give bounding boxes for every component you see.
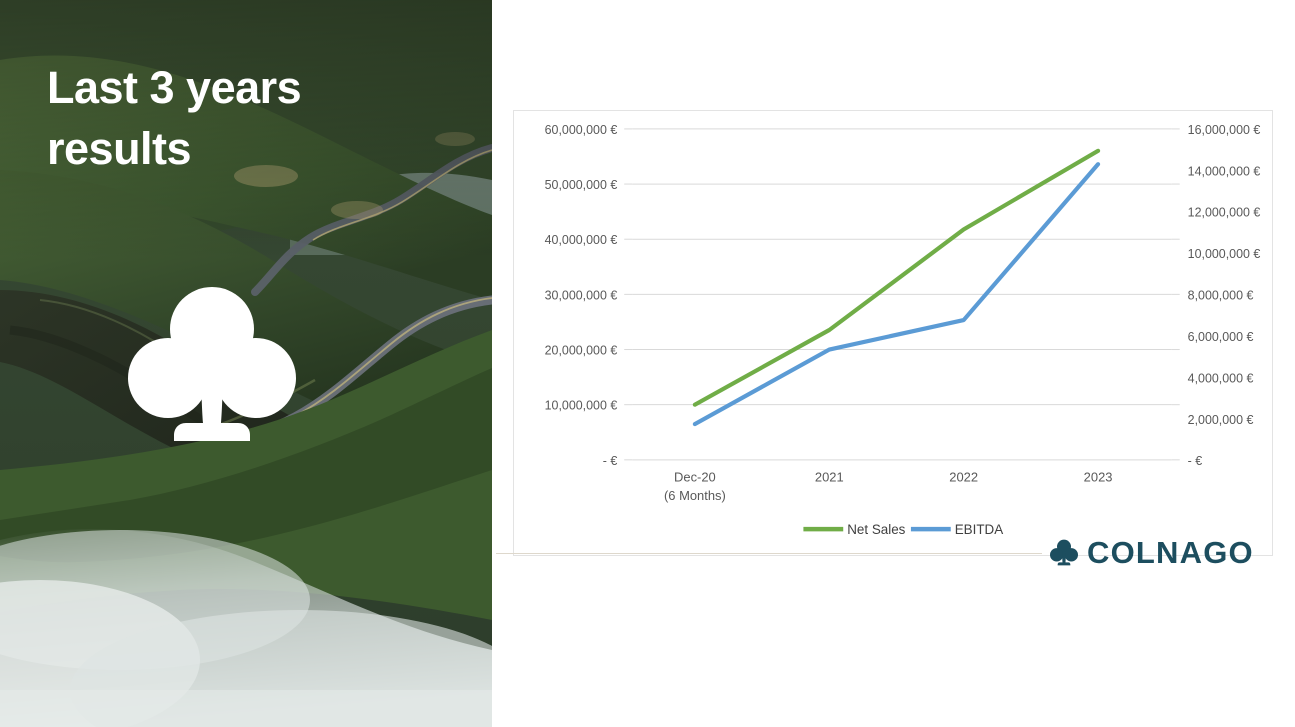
x-tick-sublabel: (6 Months) [664, 488, 726, 503]
right-tick-label: 14,000,000 € [1188, 164, 1261, 178]
right-tick-label: 8,000,000 € [1188, 289, 1254, 303]
x-tick-label: Dec-20 [674, 469, 716, 484]
x-tick-label: 2021 [815, 469, 844, 484]
x-axis-category-labels: Dec-20 (6 Months) 2021 2022 2023 [664, 469, 1112, 503]
left-tick-label: 60,000,000 € [545, 123, 618, 137]
brand-wordmark: COLNAGO [1087, 537, 1254, 568]
left-tick-label: 50,000,000 € [545, 178, 618, 192]
page-title: Last 3 years results [47, 58, 377, 180]
right-tick-label: 6,000,000 € [1188, 330, 1254, 344]
legend-label-ebitda[interactable]: EBITDA [955, 522, 1004, 537]
hero-photo-panel: Last 3 years results [0, 0, 492, 727]
right-axis-tick-labels: 16,000,000 € 14,000,000 € 12,000,000 € 1… [1188, 123, 1261, 468]
slide: Last 3 years results [0, 0, 1295, 727]
right-axis-ticks [1172, 129, 1180, 460]
brand-clover-icon [1050, 539, 1078, 567]
chart-gridlines [632, 129, 1172, 460]
right-tick-label: 12,000,000 € [1188, 206, 1261, 220]
x-tick-label: 2022 [949, 469, 978, 484]
left-tick-label: 30,000,000 € [545, 288, 618, 302]
left-tick-label: 10,000,000 € [545, 399, 618, 413]
left-tick-label: 40,000,000 € [545, 233, 618, 247]
right-tick-label: 10,000,000 € [1188, 247, 1261, 261]
left-tick-label: 20,000,000 € [545, 344, 618, 358]
colnago-logo: COLNAGO [1050, 537, 1254, 568]
colnago-clover-icon [128, 283, 296, 451]
chart-legend: Net Sales EBITDA [803, 522, 1003, 537]
content-pane: 60,000,000 € 50,000,000 € 40,000,000 € 3… [492, 0, 1295, 727]
left-tick-label: - € [603, 454, 618, 468]
right-tick-label: - € [1188, 454, 1203, 468]
right-tick-label: 16,000,000 € [1188, 123, 1261, 137]
x-tick-label: 2023 [1084, 469, 1113, 484]
left-axis-tick-labels: 60,000,000 € 50,000,000 € 40,000,000 € 3… [545, 123, 618, 468]
right-tick-label: 2,000,000 € [1188, 413, 1254, 427]
series-line-net-sales [695, 151, 1098, 405]
right-tick-label: 4,000,000 € [1188, 371, 1254, 385]
left-axis-ticks [624, 129, 632, 460]
results-chart[interactable]: 60,000,000 € 50,000,000 € 40,000,000 € 3… [513, 110, 1273, 556]
footer-divider [496, 553, 1042, 554]
line-chart-canvas: 60,000,000 € 50,000,000 € 40,000,000 € 3… [514, 111, 1272, 555]
legend-label-net-sales[interactable]: Net Sales [847, 522, 905, 537]
